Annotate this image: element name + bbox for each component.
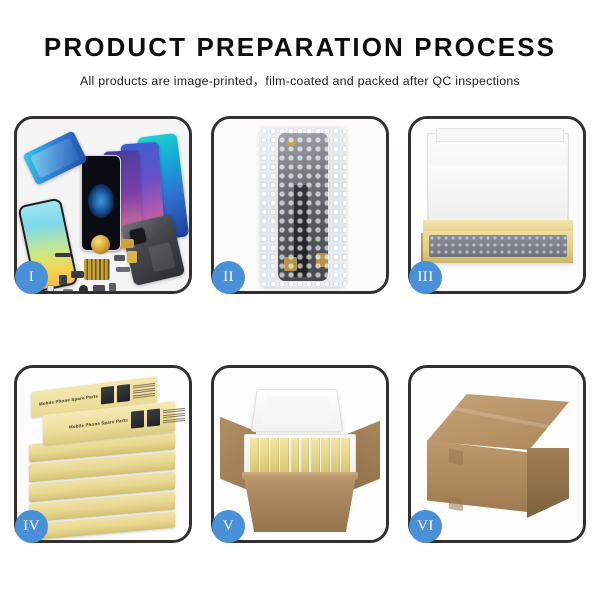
- spare-part-gold: [121, 239, 134, 248]
- process-panel-grid: I II: [14, 116, 586, 546]
- panel-step-2: II: [211, 116, 389, 294]
- carton-body: [244, 476, 356, 532]
- step-badge-6: VI: [409, 510, 442, 543]
- label-screen-thumbnail: [131, 410, 144, 428]
- page-subtitle: All products are image-printed，film-coat…: [0, 71, 600, 89]
- spare-part-gold: [127, 251, 137, 263]
- carton-top-face: [427, 394, 569, 450]
- panel-step-4: Mobile Phone Spare Parts Mobile Phone Sp…: [14, 365, 192, 543]
- carton-front-face: [427, 440, 527, 512]
- gold-coil-part: [91, 235, 110, 254]
- label-spec-lines: [133, 383, 155, 399]
- spare-part: [93, 285, 105, 291]
- packed-inner-boxes: [250, 438, 350, 474]
- spare-part: [109, 283, 116, 291]
- spare-part: [114, 255, 125, 261]
- infographic-page: PRODUCT PREPARATION PROCESS All products…: [0, 0, 600, 600]
- gold-contact: [316, 253, 328, 267]
- spare-part-white: [47, 285, 54, 291]
- spare-part: [71, 271, 84, 278]
- gold-contact: [287, 139, 296, 146]
- gold-connector-pad-array: [84, 259, 110, 280]
- spare-part: [55, 253, 71, 257]
- panel-step-5: V: [211, 365, 389, 543]
- step-badge-5: V: [212, 510, 245, 543]
- panel-step-6: VI: [408, 365, 586, 543]
- carton-side-face: [527, 448, 569, 518]
- blue-backlight-film: [22, 130, 87, 185]
- foam-lid: [251, 389, 344, 432]
- box-label-text: Mobile Phone Spare Parts: [69, 417, 128, 429]
- page-title: PRODUCT PREPARATION PROCESS: [0, 32, 600, 62]
- step-badge-2: II: [212, 261, 245, 294]
- label-screen-thumbnail: [101, 386, 114, 405]
- carton-tape-mark: [449, 497, 463, 511]
- carton-tape-mark: [449, 449, 463, 465]
- bubble-wrapped-contents: [429, 235, 567, 257]
- gold-contact: [284, 257, 297, 271]
- label-spec-lines: [163, 408, 185, 423]
- bubble-wrap-package: [260, 127, 346, 287]
- label-screen-thumbnail: [117, 384, 130, 403]
- white-foam-sheet: [429, 165, 567, 227]
- step-badge-1: I: [15, 261, 48, 294]
- header: PRODUCT PREPARATION PROCESS All products…: [0, 32, 600, 89]
- panel-step-1: I: [14, 116, 192, 294]
- spare-part: [116, 267, 130, 272]
- spare-part: [59, 275, 67, 285]
- step-badge-4: IV: [15, 510, 48, 543]
- spare-part: [63, 289, 73, 291]
- spare-part: [79, 285, 88, 291]
- step-badge-3: III: [409, 261, 442, 294]
- box-label-text: Mobile Phone Spare Parts: [39, 393, 98, 406]
- panel-step-3: III: [408, 116, 586, 294]
- label-screen-thumbnail: [147, 409, 160, 427]
